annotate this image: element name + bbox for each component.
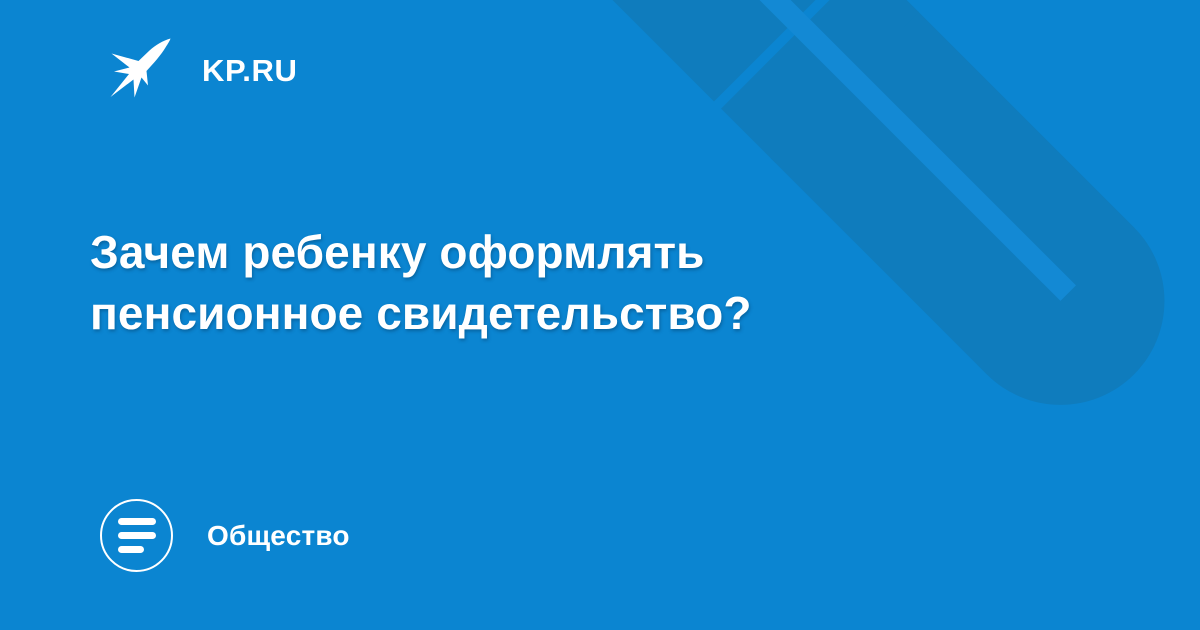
brand-name: KP.RU xyxy=(202,55,297,86)
pencil-ferrule xyxy=(721,0,919,159)
menu-bar-2 xyxy=(118,532,156,539)
category-label: Общество xyxy=(207,522,350,550)
social-share-card: KP.RU Зачем ребенку оформлять пенсионное… xyxy=(0,0,1200,630)
pencil-body xyxy=(430,0,861,102)
hamburger-menu-icon[interactable] xyxy=(100,499,173,572)
menu-bar-3 xyxy=(118,546,144,553)
swallow-bird-icon xyxy=(108,34,180,106)
page-title: Зачем ребенку оформлять пенсионное свиде… xyxy=(90,222,950,344)
menu-bar-1 xyxy=(118,518,156,525)
category-tag[interactable]: Общество xyxy=(100,499,350,572)
brand-logo[interactable]: KP.RU xyxy=(108,34,297,106)
